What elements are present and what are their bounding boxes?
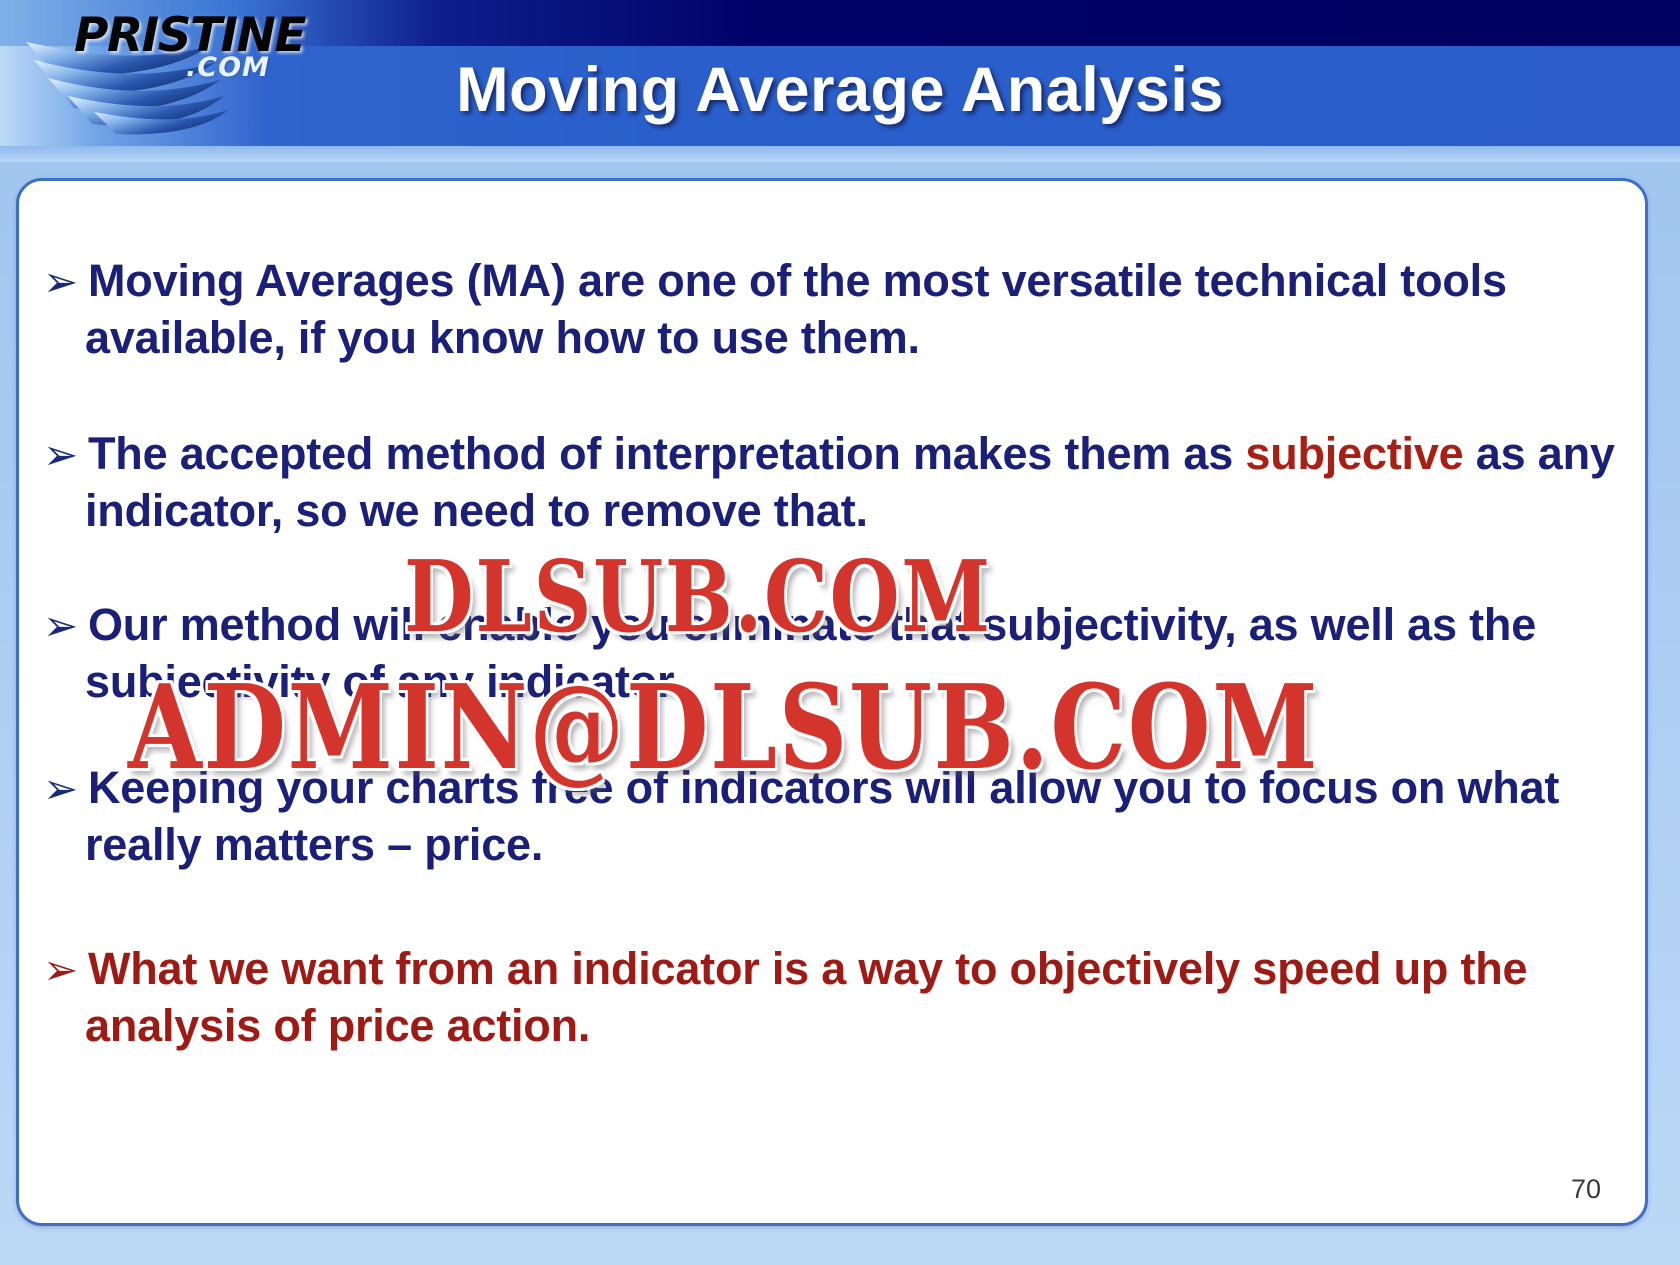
- bullet-item-2: ➢The accepted method of interpretation m…: [43, 426, 1623, 539]
- bullet-text-3: Our method will enable you eliminate tha…: [85, 599, 1536, 707]
- bullet-text-5: What we want from an indicator is a way …: [85, 943, 1527, 1051]
- header-bottom-fade: [0, 146, 1680, 162]
- bullet-item-1: ➢Moving Averages (MA) are one of the mos…: [43, 253, 1623, 366]
- bullet-list: ➢Moving Averages (MA) are one of the mos…: [43, 253, 1623, 1054]
- arrow-bullet-icon: ➢: [43, 431, 88, 478]
- bullet-item-3: ➢Our method will enable you eliminate th…: [43, 597, 1623, 710]
- arrow-bullet-icon: ➢: [43, 602, 88, 649]
- page-title: Moving Average Analysis: [0, 54, 1680, 126]
- bullet-item-5: ➢What we want from an indicator is a way…: [43, 941, 1623, 1054]
- slide: PRISTINE .COM Moving Average Analysis ➢M…: [0, 0, 1680, 1265]
- bullet-item-4: ➢Keeping your charts free of indicators …: [43, 760, 1623, 873]
- arrow-bullet-icon: ➢: [43, 258, 88, 305]
- page-number: 70: [1571, 1174, 1601, 1205]
- arrow-bullet-icon: ➢: [43, 765, 88, 812]
- bullet-text-1: Moving Averages (MA) are one of the most…: [85, 255, 1507, 363]
- arrow-bullet-icon: ➢: [43, 946, 88, 993]
- bullet-text-2-before: The accepted method of interpretation ma…: [88, 428, 1245, 479]
- content-panel: ➢Moving Averages (MA) are one of the mos…: [16, 178, 1648, 1226]
- slide-header: PRISTINE .COM Moving Average Analysis: [0, 0, 1680, 160]
- bullet-highlight-subjective: subjective: [1245, 428, 1463, 479]
- bullet-text-4: Keeping your charts free of indicators w…: [85, 762, 1559, 870]
